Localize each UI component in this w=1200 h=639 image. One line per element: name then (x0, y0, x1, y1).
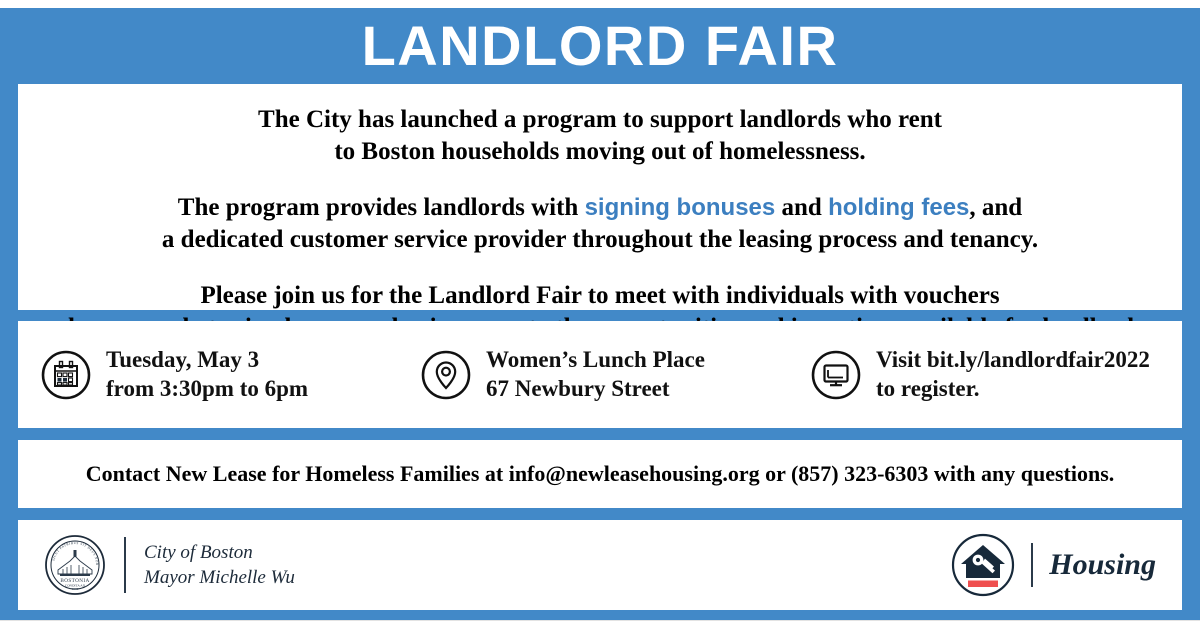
housing-logo-group: Housing (951, 533, 1156, 597)
info-row: Tuesday, May 3 from 3:30pm to 6pm Women’… (18, 321, 1182, 428)
info-item-date: Tuesday, May 3 from 3:30pm to 6pm (40, 346, 420, 402)
city-of-boston-logo-group: BOSTONIA CONDITA AD 1630 SICUT PATRIBUS … (44, 534, 295, 596)
info-panel: Tuesday, May 3 from 3:30pm to 6pm Women’… (18, 321, 1182, 428)
highlight-holding-fees: holding fees (828, 194, 969, 221)
intro-p2-prefix: The program provides landlords with (178, 194, 585, 221)
intro-p2-middle: and (775, 194, 828, 221)
intro-paragraph-1: The City has launched a program to suppo… (34, 104, 1166, 168)
intro-content: The City has launched a program to suppo… (18, 84, 1182, 344)
calendar-icon (40, 349, 92, 401)
footer-divider-left (124, 537, 126, 593)
info-register-text: Visit bit.ly/landlordfair2022 to registe… (876, 346, 1150, 402)
city-line-2: Mayor Michelle Wu (144, 567, 295, 588)
city-of-boston-seal-icon: BOSTONIA CONDITA AD 1630 SICUT PATRIBUS … (44, 534, 106, 596)
footer-panel: BOSTONIA CONDITA AD 1630 SICUT PATRIBUS … (18, 520, 1182, 610)
intro-paragraph-2: The program provides landlords with sign… (34, 192, 1166, 256)
intro-p1-line1: The City has launched a program to suppo… (258, 106, 942, 133)
highlight-signing-bonuses: signing bonuses (585, 194, 776, 221)
info-location-line1: Women’s Lunch Place (486, 347, 705, 372)
housing-label: Housing (1049, 548, 1156, 582)
info-date-text: Tuesday, May 3 from 3:30pm to 6pm (106, 346, 308, 402)
page-bottom-strip (0, 620, 1200, 639)
footer-content: BOSTONIA CONDITA AD 1630 SICUT PATRIBUS … (18, 520, 1182, 610)
info-item-location: Women’s Lunch Place 67 Newbury Street (420, 346, 810, 402)
info-item-register: Visit bit.ly/landlordfair2022 to registe… (810, 346, 1160, 402)
svg-text:1630: 1630 (72, 587, 79, 591)
intro-p2-suffix: , and (969, 194, 1022, 221)
intro-p3-line1: Please join us for the Landlord Fair to … (200, 282, 999, 309)
info-date-line1: Tuesday, May 3 (106, 347, 259, 372)
city-line-1: City of Boston (144, 542, 253, 563)
monitor-icon (810, 349, 862, 401)
info-register-line2: to register. (876, 376, 979, 401)
footer-divider-right (1031, 543, 1033, 587)
contact-content: Contact New Lease for Homeless Families … (18, 440, 1182, 508)
map-pin-icon (420, 349, 472, 401)
info-date-line2: from 3:30pm to 6pm (106, 376, 308, 401)
contact-panel: Contact New Lease for Homeless Families … (18, 440, 1182, 508)
info-location-line2: 67 Newbury Street (486, 376, 670, 401)
city-of-boston-text: City of Boston Mayor Michelle Wu (144, 540, 295, 590)
intro-p2-line2: a dedicated customer service provider th… (162, 226, 1038, 253)
housing-house-key-icon (951, 533, 1015, 597)
intro-panel: The City has launched a program to suppo… (18, 84, 1182, 310)
info-location-text: Women’s Lunch Place 67 Newbury Street (486, 346, 705, 402)
title-band: LANDLORD FAIR (0, 8, 1200, 84)
info-register-line1: Visit bit.ly/landlordfair2022 (876, 347, 1150, 372)
contact-text: Contact New Lease for Homeless Families … (86, 461, 1115, 487)
intro-p1-line2: to Boston households moving out of homel… (334, 138, 865, 165)
flyer-frame: LANDLORD FAIR The City has launched a pr… (0, 8, 1200, 620)
page-title: LANDLORD FAIR (362, 18, 839, 74)
